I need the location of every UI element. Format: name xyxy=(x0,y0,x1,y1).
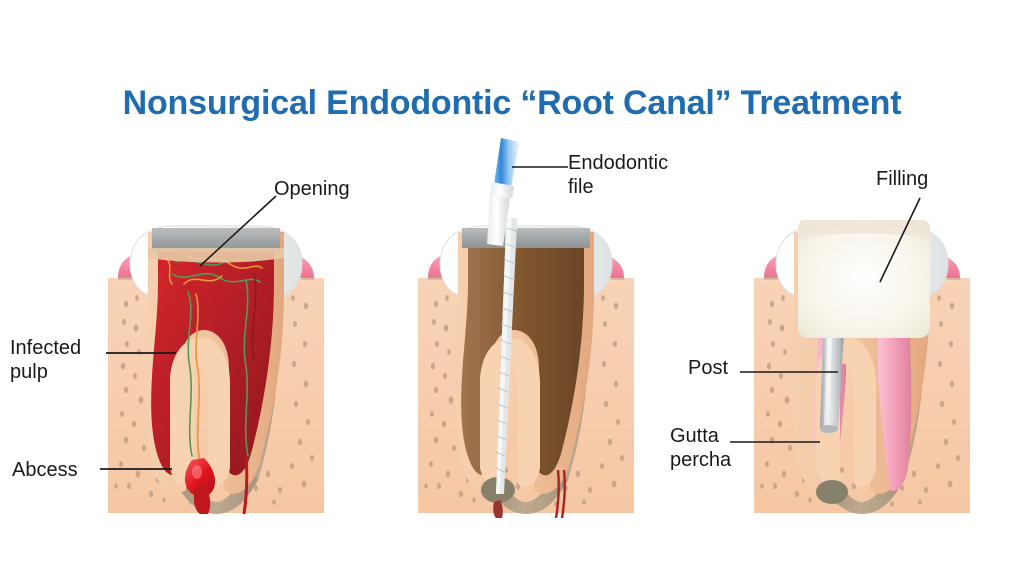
abscess-highlight xyxy=(192,465,202,479)
leader-post xyxy=(740,367,840,377)
cleaning-tooth-svg xyxy=(406,218,646,518)
label-abcess: Abcess xyxy=(12,459,78,483)
panel-cleaning-tooth xyxy=(406,218,646,518)
label-infected-pulp: Infected pulp xyxy=(10,337,81,384)
file-body-white xyxy=(487,194,510,246)
label-filling: Filling xyxy=(876,168,928,192)
label-post: Post xyxy=(688,357,728,381)
endodontic-file-handle xyxy=(470,136,540,246)
label-gutta-percha: Gutta percha xyxy=(670,425,731,472)
leader-abcess xyxy=(100,464,174,474)
label-endodontic-file: Endodontic file xyxy=(568,152,668,199)
post-tip xyxy=(820,425,838,433)
leader-gutta-percha xyxy=(730,437,822,447)
illustration-canvas: Nonsurgical Endodontic “Root Canal” Trea… xyxy=(0,0,1024,566)
apex-plug xyxy=(816,480,848,504)
label-opening: Opening xyxy=(274,178,350,202)
leader-filling xyxy=(876,194,924,286)
leader-opening xyxy=(196,190,282,270)
page-title: Nonsurgical Endodontic “Root Canal” Trea… xyxy=(0,84,1024,123)
leader-endodontic-file xyxy=(512,162,570,172)
leader-infected-pulp xyxy=(106,348,178,358)
